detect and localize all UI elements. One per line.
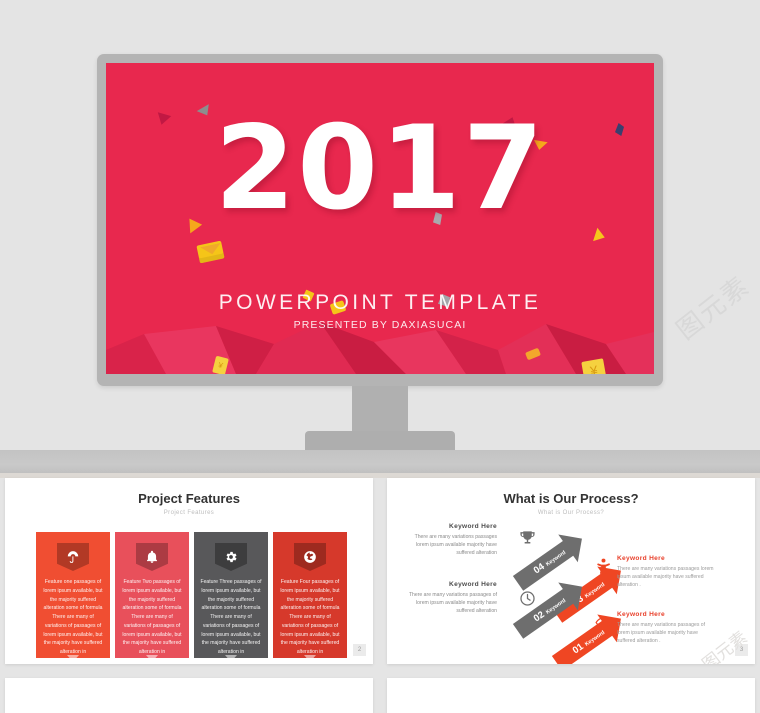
feature-card-list: Feature one passages of lorem ipsum avai… (36, 532, 347, 658)
feature-card-2-text: Feature Two passages of lorem ipsum avai… (120, 578, 184, 657)
feature-card-4[interactable]: Feature Four passages of lorem ipsum ava… (273, 532, 347, 658)
monitor-screen[interactable]: ¥ ¥ 图元素 2017 POWERPOINT TEMPLATE PRESENT… (106, 63, 654, 374)
slide-thumbnails: Project Features Project Features Featur… (0, 478, 760, 713)
feature-card-4-arrow (304, 655, 316, 658)
process-step-4-keyword: Keyword (545, 549, 567, 567)
hero-tagline: POWERPOINT TEMPLATE (106, 291, 654, 315)
monitor-stand-neck (352, 386, 408, 431)
bell-icon (136, 543, 168, 571)
feature-card-2-arrow (146, 655, 158, 658)
hero-area: ¥ ¥ 图元素 2017 POWERPOINT TEMPLATE PRESENT… (0, 0, 760, 450)
process-step-2-keyword: Keyword (545, 597, 567, 615)
feature-card-1-arrow (67, 655, 79, 658)
process-callout-1: Keyword Here There are many variations p… (409, 523, 497, 557)
trophy-icon (517, 528, 537, 548)
feature-card-1-text: Feature one passages of lorem ipsum avai… (41, 578, 105, 657)
process-callout-3: Keyword Here There are many variations p… (403, 581, 497, 615)
feature-card-3-arrow (225, 655, 237, 658)
process-callout-3-title: Keyword Here (403, 581, 497, 588)
process-callout-4-title: Keyword Here (617, 611, 715, 618)
hero-year: 2017 (106, 111, 654, 227)
page-watermark: 图元素 (667, 266, 756, 347)
monitor-frame: ¥ ¥ 图元素 2017 POWERPOINT TEMPLATE PRESENT… (97, 54, 663, 386)
desk-surface-band (0, 450, 760, 474)
process-callout-3-body: There are many variations passages of lo… (403, 591, 497, 616)
person-icon (593, 556, 613, 576)
eye-icon (593, 612, 613, 632)
process-callout-1-title: Keyword Here (409, 523, 497, 530)
confetti-yen-note-2: ¥ (581, 358, 606, 374)
slide-thumbnail-our-process[interactable]: What is Our Process? What is Our Process… (387, 478, 755, 664)
process-callout-1-body: There are many variations passages lorem… (409, 533, 497, 558)
umbrella-icon (57, 543, 89, 571)
globe-icon (294, 543, 326, 571)
screenshot-root: ¥ ¥ 图元素 2017 POWERPOINT TEMPLATE PRESENT… (0, 0, 760, 713)
feature-card-4-text: Feature Four passages of lorem ipsum ava… (278, 578, 342, 657)
hero-byline: PRESENTED BY DAXIASUCAI (106, 319, 654, 331)
process-callout-2-title: Keyword Here (617, 555, 715, 562)
slide-thumbnail-next-right[interactable] (387, 678, 755, 713)
confetti-triangle-yellow (593, 228, 607, 244)
feature-card-2[interactable]: Feature Two passages of lorem ipsum avai… (115, 532, 189, 658)
slide-thumbnail-project-features[interactable]: Project Features Project Features Featur… (5, 478, 373, 664)
feature-card-1[interactable]: Feature one passages of lorem ipsum avai… (36, 532, 110, 658)
feature-card-3-text: Feature Three passages of lorem ipsum av… (199, 578, 263, 657)
monitor-stand-base (305, 431, 455, 452)
gear-icon (215, 543, 247, 571)
clock-icon (517, 588, 537, 608)
slide-thumbnail-next-left[interactable] (5, 678, 373, 713)
process-callout-2: Keyword Here There are many variations p… (617, 555, 715, 589)
process-diagram: 04 Keyword 03 Keyword (387, 478, 755, 664)
slide2-title: Project Features (5, 491, 373, 506)
process-callout-4-body: There are many variations passages of lo… (617, 621, 715, 646)
slide2-page-number: 2 (353, 644, 366, 656)
process-callout-4: Keyword Here There are many variations p… (617, 611, 715, 645)
process-callout-2-body: There are many variations passages lorem… (617, 565, 715, 590)
process-step-1-keyword: Keyword (584, 629, 606, 647)
feature-card-3[interactable]: Feature Three passages of lorem ipsum av… (194, 532, 268, 658)
slide2-subtitle: Project Features (5, 510, 373, 516)
